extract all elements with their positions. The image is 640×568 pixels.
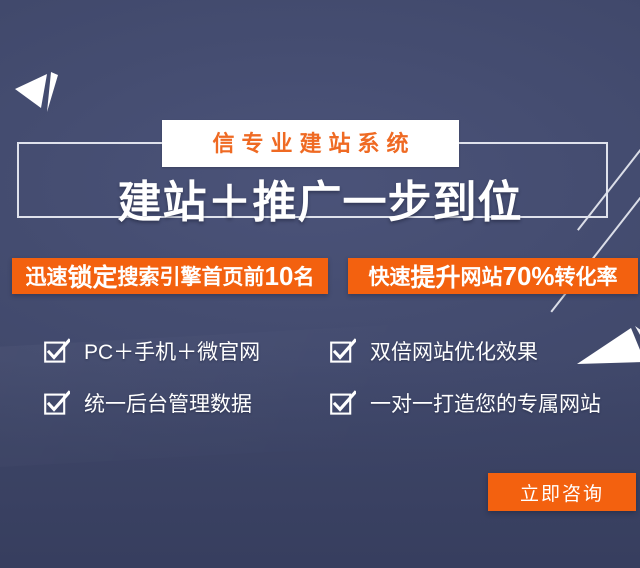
bar-conversion-lead: 快速 xyxy=(368,261,410,291)
feature-label: 统一后台管理数据 xyxy=(84,388,252,418)
feature-item: 一对一打造您的专属网站 xyxy=(330,388,640,418)
feature-item: PC＋手机＋微官网 xyxy=(44,336,330,366)
bar-rank-emphasis: 锁定 xyxy=(68,258,118,294)
headline: 建站＋推广一步到位 xyxy=(0,180,640,226)
highlight-bar-conversion: 快速提升网站70%转化率 xyxy=(348,258,638,294)
feature-item: 统一后台管理数据 xyxy=(44,388,330,418)
checkbox-checked-icon xyxy=(44,338,70,364)
feature-label: PC＋手机＋微官网 xyxy=(84,336,260,366)
paper-plane-left-icon xyxy=(14,62,70,112)
bar-conversion-tail: 转化率 xyxy=(555,261,618,291)
feature-label: 双倍网站优化效果 xyxy=(370,336,538,366)
bar-conversion-middle: 网站 xyxy=(460,261,502,291)
brand-tag-text: 信专业建站系统 xyxy=(205,133,415,155)
checkbox-checked-icon xyxy=(44,390,70,416)
feature-list: PC＋手机＋微官网 双倍网站优化效果 统一后台管理数据 一对一打造您的专属网站 xyxy=(44,336,640,418)
brand-tag-box: 信专业建站系统 xyxy=(162,120,459,167)
feature-item: 双倍网站优化效果 xyxy=(330,336,640,366)
feature-label: 一对一打造您的专属网站 xyxy=(370,388,601,418)
bar-conversion-number: 70% xyxy=(502,261,554,292)
checkbox-checked-icon xyxy=(330,390,356,416)
bar-rank-middle: 搜索引擎首页前 xyxy=(118,261,265,291)
bar-rank-tail: 名 xyxy=(293,261,314,291)
promo-banner: 信专业建站系统 建站＋推广一步到位 迅速锁定搜索引擎首页前10名 快速提升网站7… xyxy=(0,0,640,568)
consult-now-button[interactable]: 立即咨询 xyxy=(488,473,636,511)
bar-conversion-emphasis: 提升 xyxy=(410,258,460,294)
highlight-bar-rank: 迅速锁定搜索引擎首页前10名 xyxy=(12,258,328,294)
bar-rank-number: 10 xyxy=(265,261,294,292)
checkbox-checked-icon xyxy=(330,338,356,364)
bar-rank-lead: 迅速 xyxy=(26,261,68,291)
